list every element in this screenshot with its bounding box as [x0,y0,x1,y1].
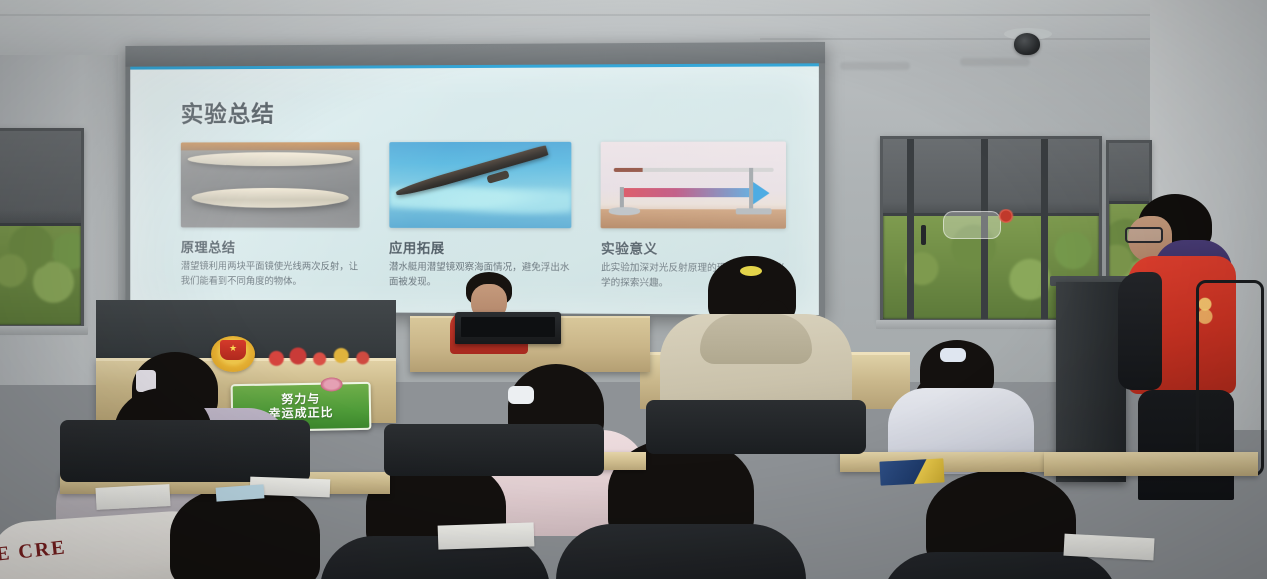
window-mullion [907,139,914,319]
booklet[interactable] [879,458,944,485]
wall-vent [840,62,910,70]
podium-laptop[interactable] [455,312,561,344]
student-hair [170,486,320,579]
window-blind-left[interactable] [0,131,81,226]
light-ray-arrowhead-icon [753,182,769,204]
student-coat [556,524,806,579]
student-dark-head-bottom-left [150,486,340,579]
volunteer-arm [1118,272,1162,390]
window-sill-left [0,326,88,335]
worksheet-paper[interactable] [1063,534,1154,561]
window-decal [943,211,1001,239]
hair-clip [508,386,534,404]
column-body: 潜望镜利用两块平面镜使光线两次反射，让我们能看到不同角度的物体。 [181,260,361,290]
column-heading: 应用拓展 [389,237,573,258]
photo-top-band [181,142,360,150]
window-blind-right[interactable] [883,139,1099,216]
worksheet-paper[interactable] [95,484,170,510]
slide-title: 实验总结 [181,93,788,129]
submarine-in-sea-photo [389,142,571,228]
wall-vent [960,58,1030,66]
window-decal-flower-icon [997,209,1015,223]
stand-right-base [736,209,771,215]
column-heading: 原理总结 [181,236,361,256]
stand-right [749,168,753,210]
hair-bow [940,348,966,362]
window-left [0,128,84,328]
slide-column-application: 应用拓展 潜水艇用潜望镜观察海面情况，避免浮出水面被发现。 [389,142,573,291]
stand-left [619,187,623,210]
mirror-ellipse-upper [188,152,352,166]
window-handle[interactable] [921,225,926,245]
chair-right [1196,280,1264,476]
hair-tie [740,266,762,276]
worksheet-paper[interactable] [438,522,535,549]
column-heading: 实验意义 [601,237,788,258]
stand-left-base [608,208,639,216]
laptop-screen [461,317,555,337]
slide-column-principle: 原理总结 潜望镜利用两块平面镜使光线两次反射，让我们能看到不同角度的物体。 [181,142,361,290]
light-ray-arrow [623,188,756,197]
student-dark-coat-front-right [880,470,1120,579]
student-hood [700,314,812,364]
chair-left [60,420,310,482]
mirror-ellipse-lower [191,187,348,208]
optical-bench-arrow-diagram [601,141,786,228]
classroom-screenshot: 实验总结 原理总结 潜望镜利用两块平面镜使光线两次反射，让我们能看到不同角度的物… [0,0,1267,579]
ceiling-seam [0,14,1267,16]
chair-center-right [646,400,866,454]
ceiling-dome-camera [1014,33,1040,55]
periscope-mirror-photo [181,142,360,228]
glasses-icon [1125,227,1163,243]
window-mullion [1041,139,1048,319]
sign-flower-icon [320,377,342,391]
desk-far-right [1044,452,1258,476]
chair-center [384,424,604,476]
